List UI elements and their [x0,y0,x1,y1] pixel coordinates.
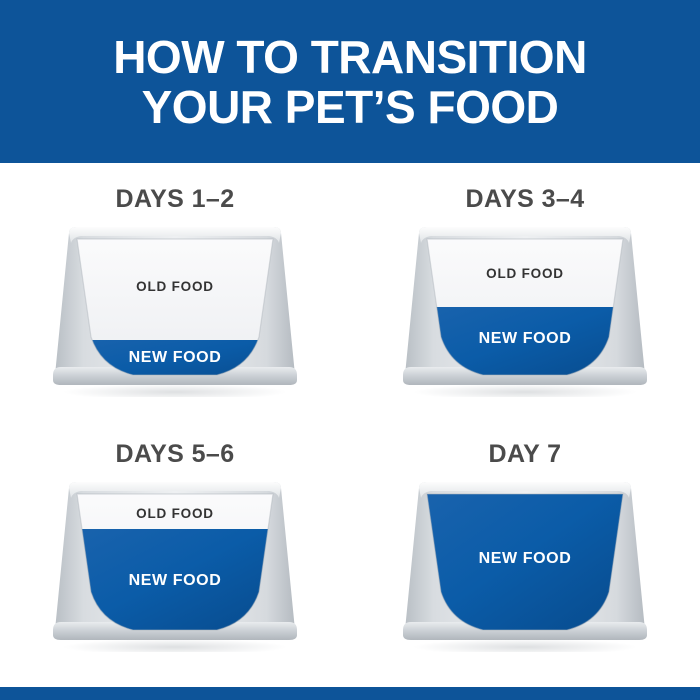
bowl-illustration [397,225,653,397]
bowl-illustration [397,480,653,652]
panel-label: DAYS 1–2 [0,185,350,214]
header-title-line-2: YOUR PET’S FOOD [142,82,559,132]
food-bowl: OLD FOOD NEW FOOD [47,480,303,652]
panel-grid: DAYS 1–2 [0,163,700,687]
panel-label: DAYS 3–4 [350,185,700,214]
bowl-shadow [413,384,637,397]
food-bowl: OLD FOOD NEW FOOD [47,225,303,397]
panel-days-5-6: DAYS 5–6 [0,418,350,680]
bowl-illustration [47,225,303,397]
panel-day-7: DAY 7 [350,418,700,680]
panel-days-3-4: DAYS 3–4 [350,163,700,425]
header-banner: HOW TO TRANSITION YOUR PET’S FOOD [0,0,700,163]
bowl-shadow [63,384,287,397]
panel-label: DAYS 5–6 [0,440,350,469]
pet-food-transition-infographic: HOW TO TRANSITION YOUR PET’S FOOD DAYS 1… [0,0,700,700]
food-bowl: NEW FOOD [397,480,653,652]
panel-label: DAY 7 [350,440,700,469]
bowl-illustration [47,480,303,652]
bowl-shadow [63,639,287,652]
header-title-line-1: HOW TO TRANSITION [113,32,587,82]
bowl-shadow [413,639,637,652]
food-bowl: OLD FOOD NEW FOOD [397,225,653,397]
panel-days-1-2: DAYS 1–2 [0,163,350,425]
footer-bar [0,687,700,700]
